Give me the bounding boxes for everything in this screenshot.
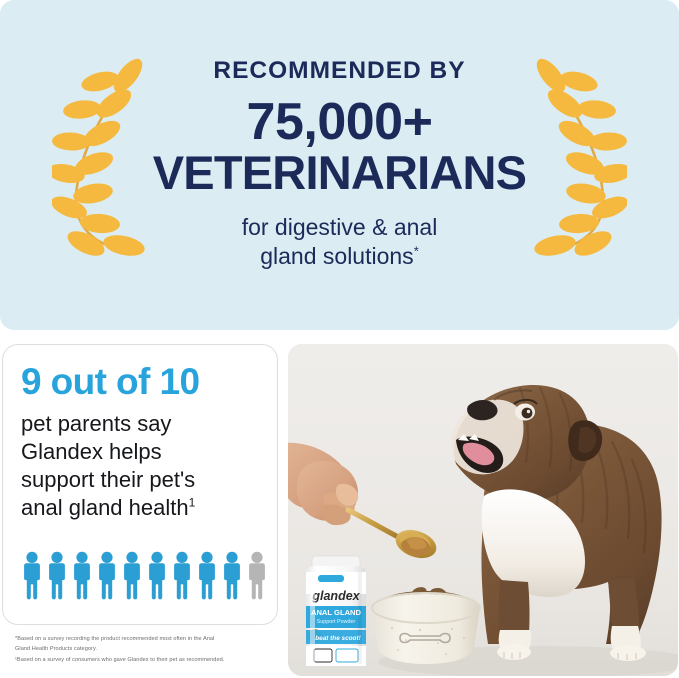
svg-text:ANAL GLAND: ANAL GLAND <box>311 608 362 617</box>
stat-body: pet parents say Glandex helps support th… <box>21 410 261 523</box>
banner-subline: for digestive & anal gland solutions* <box>150 213 530 272</box>
person-icon <box>246 551 268 606</box>
banner-eyebrow: RECOMMENDED BY <box>150 58 530 84</box>
footnote-line-1: *Based on a survey recording the product… <box>15 634 281 644</box>
laurel-wreath-left-icon <box>52 58 162 273</box>
banner-keyword: VETERINARIANS <box>150 149 530 197</box>
stat-card: 9 out of 10 pet parents say Glandex help… <box>2 344 278 625</box>
stat-body-line-1: pet parents say <box>21 411 171 436</box>
infographic-page: RECOMMENDED BY 75,000+ VETERINARIANS for… <box>0 0 679 678</box>
product-lifestyle-photo: glandex ANAL GLAND Support Powder beat t… <box>288 344 678 676</box>
person-icon <box>196 551 218 606</box>
banner-subline-1: for digestive & anal <box>242 214 438 240</box>
food-bowl <box>372 585 480 664</box>
svg-text:glandex: glandex <box>311 589 360 603</box>
glandex-bottle: glandex ANAL GLAND Support Powder beat t… <box>306 556 366 666</box>
person-icon <box>121 551 143 606</box>
pictogram-people-row <box>21 551 268 606</box>
banner-number: 75,000+ <box>150 96 530 149</box>
person-icon <box>171 551 193 606</box>
stat-headline: 9 out of 10 <box>21 363 261 400</box>
person-icon <box>21 551 43 606</box>
person-icon <box>221 551 243 606</box>
person-icon <box>71 551 93 606</box>
person-icon <box>46 551 68 606</box>
stat-body-marker: 1 <box>189 496 196 510</box>
stat-body-line-4: anal gland health <box>21 495 189 520</box>
footnotes: *Based on a survey recording the product… <box>15 634 281 665</box>
banner-subline-marker: * <box>414 244 419 259</box>
svg-text:beat the scoot!: beat the scoot! <box>315 635 361 642</box>
photo-illustration: glandex ANAL GLAND Support Powder beat t… <box>288 344 678 676</box>
person-icon <box>146 551 168 606</box>
banner-text-block: RECOMMENDED BY 75,000+ VETERINARIANS for… <box>150 58 530 272</box>
laurel-wreath-right-icon <box>517 58 627 273</box>
stat-body-line-2: Glandex helps <box>21 439 162 464</box>
recommended-by-banner: RECOMMENDED BY 75,000+ VETERINARIANS for… <box>0 0 679 330</box>
footnote-line-2: Gland Health Products category. <box>15 644 281 654</box>
banner-subline-2: gland solutions <box>260 243 413 269</box>
person-icon <box>96 551 118 606</box>
footnote-line-3: ¹Based on a survey of consumers who gave… <box>15 655 281 665</box>
svg-text:Support Powder: Support Powder <box>317 619 356 625</box>
stat-body-line-3: support their pet's <box>21 467 195 492</box>
